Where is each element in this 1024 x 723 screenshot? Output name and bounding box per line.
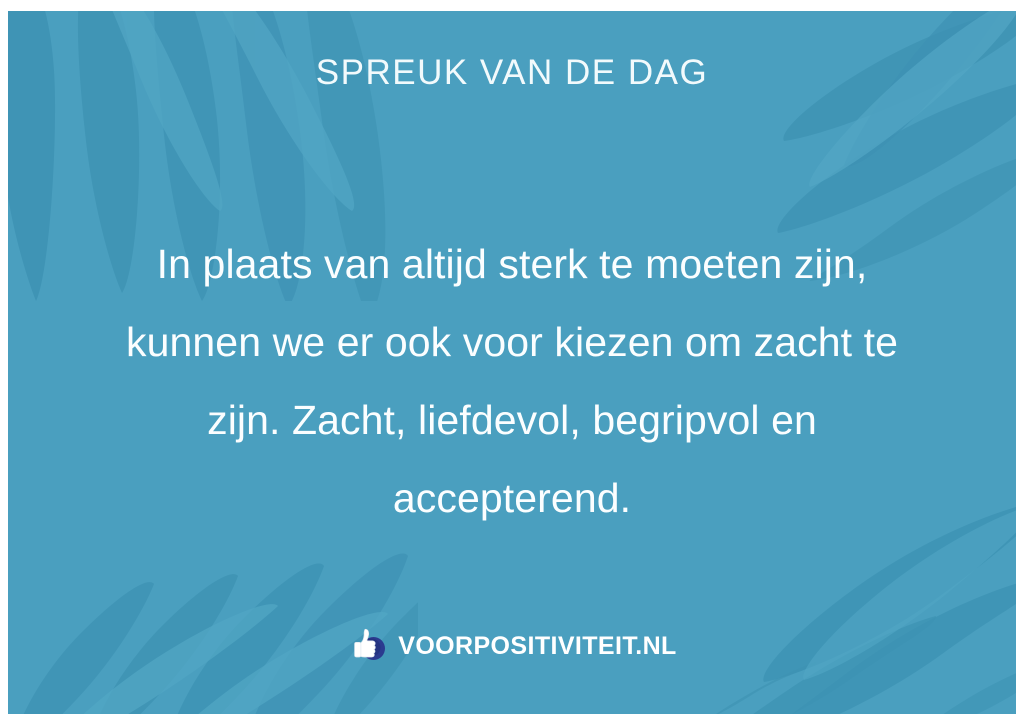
quote-card: SPREUK VAN DE DAG In plaats van altijd s… [8, 11, 1016, 714]
quote-line-3: zijn. Zacht, liefdevol, begripvol en [68, 381, 956, 459]
quote-line-1: In plaats van altijd sterk te moeten zij… [68, 225, 956, 303]
site-logo[interactable]: VOORPOSITIVITEIT.NL [8, 625, 1016, 667]
top-right-frond-light-icon [726, 11, 1016, 221]
quote-line-2: kunnen we er ook voor kiezen om zacht te [68, 303, 956, 381]
top-left-frond-light-icon [78, 11, 408, 211]
quote-text: In plaats van altijd sterk te moeten zij… [68, 225, 956, 537]
thumbs-up-icon [347, 625, 389, 667]
logo-text: VOORPOSITIVITEIT.NL [398, 634, 676, 659]
page-title: SPREUK VAN DE DAG [8, 55, 1016, 90]
quote-line-4: accepterend. [68, 459, 956, 537]
